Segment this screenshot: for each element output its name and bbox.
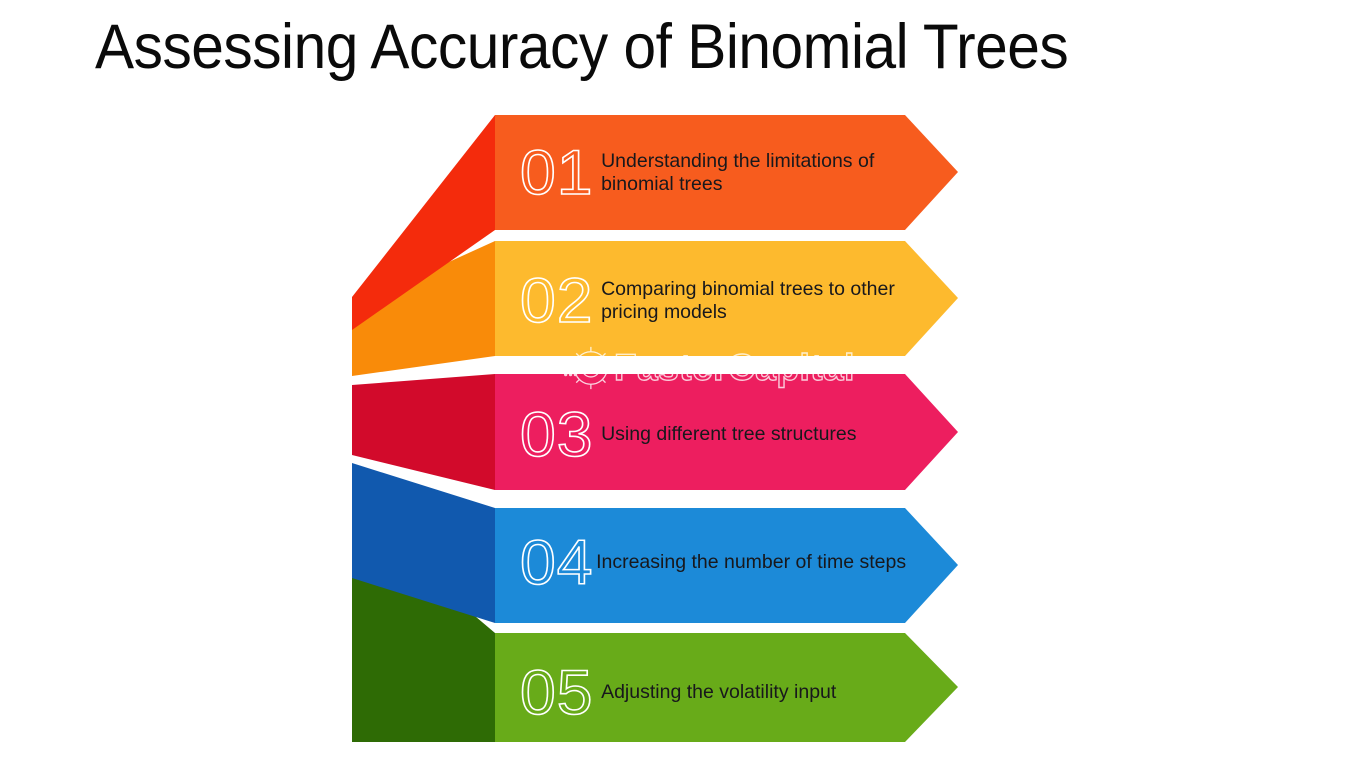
band-face-03 [495,374,958,490]
band-face-04 [495,508,958,623]
band-face-01 [495,115,958,230]
chevron-stack-graphic [0,0,1350,759]
band-face-02 [495,241,958,356]
infographic-slide: Assessing Accuracy of Binomial Trees 01 … [0,0,1350,759]
band-face-05 [495,633,958,742]
